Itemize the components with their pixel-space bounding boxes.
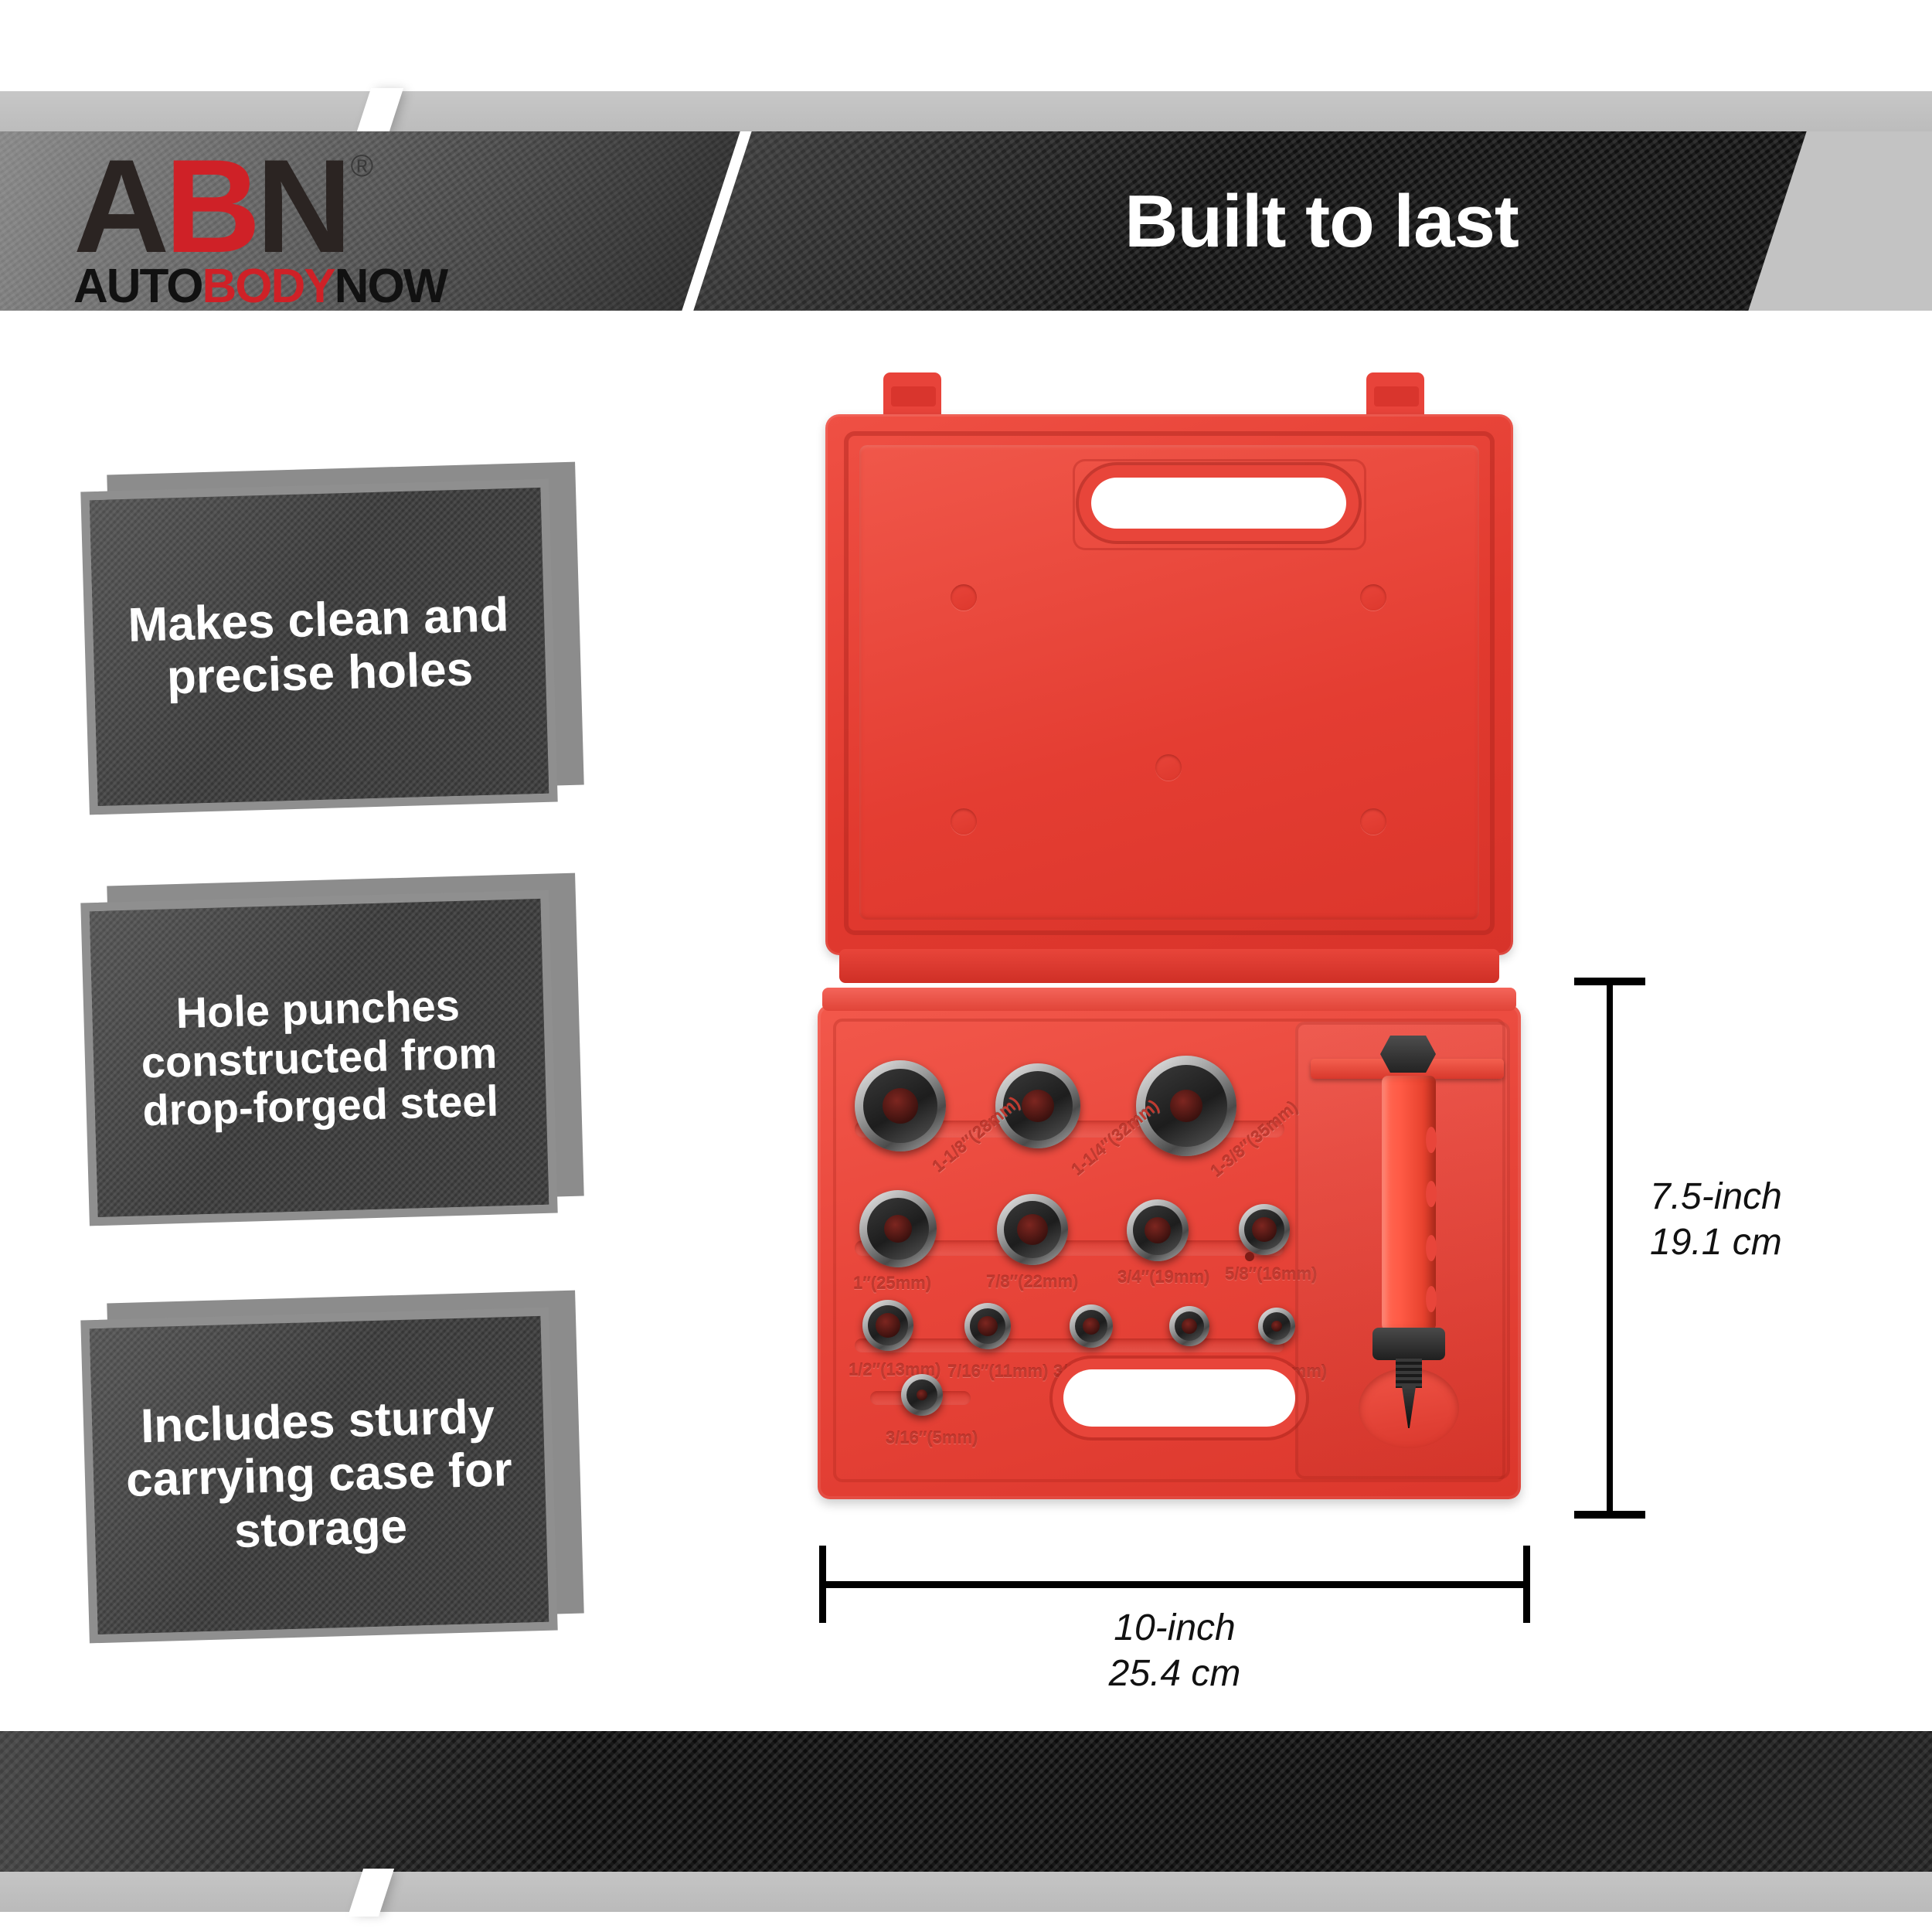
tray-rail-row3 [855, 1338, 1284, 1352]
punch-1in [859, 1190, 937, 1267]
registered-trademark-icon: ® [351, 148, 369, 184]
punch-7-16 [964, 1303, 1011, 1349]
product-image-hole-punch-set: 1-1/8″(28mm) 1-1/4″(32mm) 1-3/8″(35mm) 1… [804, 386, 1530, 1546]
feature-text-1: Makes clean and precise holes [92, 587, 546, 706]
case-latch-right [1366, 372, 1424, 420]
case-latch-left [883, 372, 941, 420]
page-title: Built to last [866, 176, 1777, 269]
logo-wordmark: AUTOBODYNOW [73, 264, 607, 309]
case-lid [825, 402, 1513, 997]
punch-1-2 [862, 1300, 913, 1351]
dimension-height-label: 7.5-inch 19.1 cm [1650, 1175, 1882, 1265]
logo-word-now: NOW [335, 260, 447, 313]
dimension-width-metric: 25.4 cm [974, 1651, 1376, 1697]
bottom-gray-strip [0, 1872, 1932, 1912]
feature-text-2: Hole punches constructed from drop-forge… [91, 979, 546, 1137]
punch-label-3-16: 3/16″(5mm) [886, 1428, 978, 1448]
dimension-width-imperial: 10-inch [974, 1606, 1376, 1651]
case-lid-boss-3 [951, 808, 977, 835]
logo-mark: A B N ® [73, 144, 607, 269]
feature-plate: Makes clean and precise holes [80, 479, 557, 815]
tool-collar [1372, 1328, 1445, 1360]
case-lid-handle-cutout [1091, 478, 1346, 529]
punch-5-16 [1169, 1306, 1209, 1346]
dimension-height-metric: 19.1 cm [1650, 1220, 1882, 1266]
punch-label-7-16: 7/16″(11mm) [947, 1362, 1048, 1382]
tool-grip-handle [1382, 1076, 1436, 1331]
punch-3-8 [1070, 1304, 1113, 1348]
tool-threaded-shaft [1396, 1359, 1422, 1388]
logo-letter-b: B [165, 144, 256, 269]
case-tray-lip [822, 988, 1516, 1011]
punch-5-8 [1239, 1204, 1290, 1255]
feature-plate: Includes sturdy carrying case for storag… [80, 1308, 557, 1644]
case-lid-inset [859, 445, 1479, 920]
dimension-vertical-line [1607, 978, 1613, 1519]
feature-plate: Hole punches constructed from drop-forge… [80, 890, 557, 1226]
punch-7-8 [997, 1194, 1068, 1265]
dimension-horizontal-line [819, 1581, 1530, 1588]
feature-callout-1: Makes clean and precise holes [85, 485, 580, 810]
dimension-width-label: 10-inch 25.4 cm [974, 1606, 1376, 1696]
logo-word-body: BODY [202, 260, 335, 313]
dimension-height-imperial: 7.5-inch [1650, 1175, 1882, 1220]
tool-hex-nut [1380, 1036, 1436, 1073]
dimension-horizontal-cap-right [1523, 1546, 1530, 1623]
bottom-diagonal-slash-accent [348, 1869, 394, 1917]
logo-letter-n: N [256, 144, 347, 269]
case-lid-body [825, 414, 1513, 955]
case-lid-boss-4 [1360, 808, 1386, 835]
case-tray: 1-1/8″(28mm) 1-1/4″(32mm) 1-3/8″(35mm) 1… [818, 1005, 1521, 1499]
logo-word-auto: AUTO [73, 260, 202, 313]
bottom-carbon-sheen [0, 1731, 1932, 1872]
top-banner: A B N ® AUTOBODYNOW Built to last [0, 0, 1932, 340]
feature-callout-3: Includes sturdy carrying case for storag… [85, 1314, 580, 1638]
feature-text-3: Includes sturdy carrying case for storag… [91, 1389, 547, 1563]
case-lid-boss-1 [951, 584, 977, 611]
punch-label-1in: 1″(25mm) [853, 1274, 931, 1294]
punch-3-16 [901, 1374, 943, 1416]
punch-3-4 [1127, 1199, 1189, 1261]
punch-1-4 [1258, 1308, 1295, 1345]
logo-letter-a: A [73, 144, 165, 269]
bottom-banner [0, 1731, 1932, 1932]
case-lid-boss-2 [1360, 584, 1386, 611]
diagonal-slash-accent [355, 88, 403, 136]
abn-logo: A B N ® AUTOBODYNOW [73, 144, 607, 306]
bottom-carbon-band [0, 1731, 1932, 1872]
case-hinge [839, 949, 1499, 983]
case-tray-handle-cutout [1063, 1369, 1295, 1427]
dimension-vertical-cap-bottom [1574, 1511, 1645, 1519]
punch-label-3-4: 3/4″(19mm) [1117, 1267, 1209, 1287]
feature-callout-2: Hole punches constructed from drop-forge… [85, 896, 580, 1221]
punch-label-7-8: 7/8″(22mm) [986, 1272, 1078, 1292]
case-lid-boss-5 [1155, 754, 1182, 781]
punch-1-1-8 [855, 1060, 946, 1151]
tray-molding-pin [1245, 1252, 1254, 1261]
top-gray-strip [0, 91, 1932, 131]
